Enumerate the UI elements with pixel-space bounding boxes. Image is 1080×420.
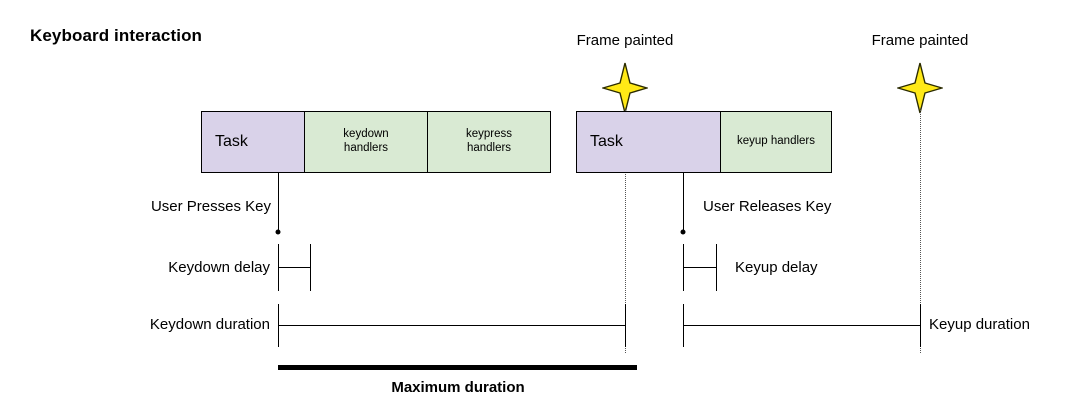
frame-painted-label-1: Frame painted xyxy=(577,32,674,49)
keydown-handlers-label: keydown handlers xyxy=(343,128,388,155)
keydown-delay-tick-end xyxy=(310,244,311,291)
keyup-duration-label: Keyup duration xyxy=(929,316,1030,333)
keyup-duration-tick-end xyxy=(920,304,921,347)
keydown-duration-label: Keydown duration xyxy=(150,316,270,333)
keyup-duration-span xyxy=(683,325,920,326)
task-block-1: Task xyxy=(201,111,305,173)
user-releases-key-dot xyxy=(681,230,686,235)
keyboard-interaction-diagram: Keyboard interaction Frame painted Frame… xyxy=(0,0,1080,420)
maximum-duration-bar xyxy=(278,365,637,370)
keydown-duration-tick-end xyxy=(625,304,626,347)
keyup-delay-span xyxy=(683,267,716,268)
keydown-delay-span xyxy=(278,267,310,268)
keypress-handlers-block: keypress handlers xyxy=(427,111,551,173)
keyup-delay-label: Keyup delay xyxy=(735,259,818,276)
frame-painted-label-2: Frame painted xyxy=(872,32,969,49)
keydown-delay-label: Keydown delay xyxy=(168,259,270,276)
keyup-delay-tick-end xyxy=(716,244,717,291)
task-block-1-label: Task xyxy=(215,133,248,152)
user-releases-key-label: User Releases Key xyxy=(703,198,831,215)
page-title: Keyboard interaction xyxy=(30,26,202,46)
keydown-duration-span xyxy=(278,325,625,326)
keyup-handlers-label: keyup handlers xyxy=(737,135,815,149)
task-block-2: Task xyxy=(576,111,721,173)
keydown-handlers-block: keydown handlers xyxy=(304,111,428,173)
user-presses-key-leader xyxy=(278,173,279,232)
user-releases-key-leader xyxy=(683,173,684,232)
task-block-2-label: Task xyxy=(590,133,623,152)
user-presses-key-dot xyxy=(276,230,281,235)
keyup-handlers-block: keyup handlers xyxy=(720,111,832,173)
user-presses-key-label: User Presses Key xyxy=(151,198,271,215)
keypress-handlers-label: keypress handlers xyxy=(466,128,512,155)
maximum-duration-label: Maximum duration xyxy=(391,379,524,396)
